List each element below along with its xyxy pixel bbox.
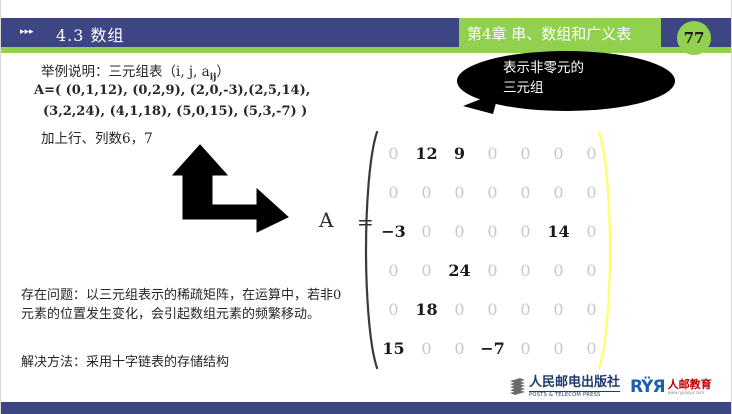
matrix-cell: −3 [377, 212, 410, 251]
triplet-line-1: A=( (0,1,12), (0,2,9), (2,0,-3),(2,5,14)… [34, 83, 310, 98]
matrix-cell: 0 [575, 251, 608, 290]
matrix-cell: 0 [575, 290, 608, 329]
matrix-cell: 0 [509, 134, 542, 173]
matrix-cell: 0 [377, 251, 410, 290]
section-title: 4.3 数组 [56, 22, 125, 46]
callout-line-2: 三元组 [503, 78, 663, 98]
matrix-cell: 0 [443, 329, 476, 368]
press-name-cn: 人民邮电出版社 [529, 376, 620, 389]
footer-logo-group: 人民邮电出版社 POSTS & TELECOM PRESS RŸЯ 人邮教育 w… [509, 374, 712, 400]
example-label-tail: ） [216, 64, 230, 80]
matrix-cell: 0 [542, 329, 575, 368]
matrix-cell: 0 [575, 329, 608, 368]
matrix-cell: 0 [575, 212, 608, 251]
example-label-line: 举例说明：三元组表（i, j, aij） [41, 60, 230, 83]
matrix-cell: 0 [542, 173, 575, 212]
posts-telecom-press-logo: 人民邮电出版社 POSTS & TELECOM PRESS [509, 376, 620, 398]
matrix-cell: −7 [476, 329, 509, 368]
matrix-cell: 0 [476, 173, 509, 212]
matrix-cell: 0 [410, 173, 443, 212]
triple-chevron-icon: ▸▸▸ [20, 26, 34, 38]
solution-statement-text: 解决方法：采用十字链表的存储结构 [21, 351, 229, 370]
matrix-cell: 0 [443, 173, 476, 212]
matrix-cell: 15 [377, 329, 410, 368]
bent-double-arrow-icon [171, 143, 291, 233]
matrix-cell: 0 [509, 173, 542, 212]
callout-bubble: 表示非零元的 三元组 [441, 48, 691, 124]
matrix-cell: 9 [443, 134, 476, 173]
matrix-figure: A = 0 12 9 0 0 0 0 0 0 0 0 0 0 0 [319, 130, 639, 375]
matrix-cell: 0 [443, 212, 476, 251]
matrix-cell: 0 [575, 134, 608, 173]
matrix-cell: 0 [509, 251, 542, 290]
matrix-cell: 0 [410, 329, 443, 368]
callout-text-block: 表示非零元的 三元组 [503, 58, 663, 98]
matrix-cell: 0 [542, 134, 575, 173]
matrix-cell: 0 [542, 290, 575, 329]
matrix-cell: 0 [476, 212, 509, 251]
matrix-cell: 0 [377, 290, 410, 329]
matrix-label: A [319, 208, 333, 232]
chapter-title: 第4章 串、数组和广义表 [467, 23, 631, 44]
edu-name-cn: 人邮教育 [668, 379, 712, 390]
matrix-cell: 12 [410, 134, 443, 173]
matrix-cell: 0 [476, 134, 509, 173]
matrix-grid: 0 12 9 0 0 0 0 0 0 0 0 0 0 0 −3 0 0 0 0 … [377, 134, 608, 368]
matrix-cell: 0 [476, 290, 509, 329]
press-name-en: POSTS & TELECOM PRESS [529, 391, 620, 398]
matrix-cell: 0 [476, 251, 509, 290]
problem-statement-text: 存在问题：以三元组表示的稀疏矩阵，在运算中，若非0元素的位置发生变化，会引起数组… [21, 286, 351, 324]
callout-line-1: 表示非零元的 [503, 58, 663, 78]
matrix-cell: 24 [443, 251, 476, 290]
renyou-education-logo: RŸЯ 人邮教育 www.ryjiaoyu.com [630, 377, 712, 397]
edu-website-url: www.ryjiaoyu.com [668, 391, 712, 395]
matrix-cell: 0 [443, 290, 476, 329]
matrix-cell: 14 [542, 212, 575, 251]
matrix-cell: 0 [509, 329, 542, 368]
matrix-cell: 0 [542, 251, 575, 290]
matrix-cell: 0 [410, 212, 443, 251]
ryr-monogram-icon: RŸЯ [630, 377, 665, 397]
triplet-line-2: (3,2,24), (4,1,18), (5,0,15), (5,3,-7) ) [43, 104, 307, 119]
matrix-cell: 0 [509, 212, 542, 251]
slide-canvas: ▸▸▸ 4.3 数组 第4章 串、数组和广义表 77 举例说明：三元组表（i, … [0, 0, 732, 414]
press-book-icon [509, 377, 526, 397]
matrix-cell: 0 [575, 173, 608, 212]
matrix-cell: 18 [410, 290, 443, 329]
matrix-cell: 0 [377, 173, 410, 212]
example-label-main: 举例说明：三元组表（i, j, a [41, 64, 210, 80]
matrix-cell: 0 [509, 290, 542, 329]
edu-logo-text: 人邮教育 www.ryjiaoyu.com [668, 379, 712, 395]
press-logo-text: 人民邮电出版社 POSTS & TELECOM PRESS [529, 376, 620, 398]
matrix-cell: 0 [410, 251, 443, 290]
slide-header: ▸▸▸ 4.3 数组 第4章 串、数组和广义表 77 [1, 18, 732, 47]
matrix-cell: 0 [377, 134, 410, 173]
slide-bottom-bar [1, 402, 732, 414]
dimensions-line: 加上行、列数6，7 [41, 127, 153, 147]
